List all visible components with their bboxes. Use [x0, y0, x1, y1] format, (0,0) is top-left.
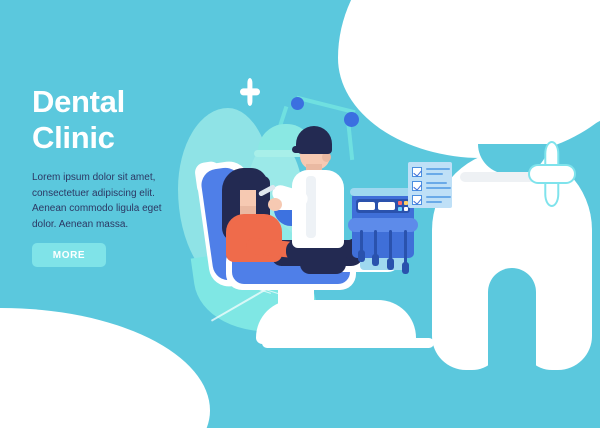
cart-tool-2 — [372, 254, 379, 266]
cart-tool-4 — [402, 262, 409, 274]
cart-tool-shelf — [348, 218, 418, 232]
checkbox-icon[interactable] — [412, 195, 422, 205]
dentist-lab-coat — [292, 170, 344, 248]
cart-tool-3 — [387, 258, 394, 270]
checklist-text-line — [426, 196, 451, 198]
dental-checklist-card[interactable] — [408, 162, 452, 208]
checklist-row[interactable] — [412, 195, 448, 205]
cart-screen-right — [378, 202, 395, 210]
page-title-line-1: Dental — [32, 84, 252, 120]
cart-tool-1 — [358, 250, 365, 262]
checkbox-icon[interactable] — [412, 181, 422, 191]
checklist-text-line — [426, 201, 442, 203]
tooth-root-gap — [488, 268, 536, 368]
checklist-text-line — [426, 173, 443, 175]
dentist-cap-brim — [292, 146, 312, 153]
sparkle-tooth-icon — [530, 143, 574, 205]
check-mark-icon — [413, 182, 421, 191]
cart-hose-2 — [374, 230, 377, 256]
hero-body-text: Lorem ipsum dolor sit amet, consectetuer… — [32, 170, 182, 232]
dentist-hand — [268, 198, 282, 211]
lamp-arm-upper — [296, 96, 355, 114]
check-mark-icon — [413, 168, 421, 177]
sparkle-top-right-icon — [369, 90, 386, 114]
cart-hose-3 — [389, 230, 392, 260]
checklist-text-line — [426, 187, 451, 189]
page-title-line-2: Clinic — [32, 120, 252, 156]
cart-base — [360, 256, 406, 270]
cart-hose-1 — [360, 230, 363, 252]
check-mark-icon — [413, 196, 421, 205]
checkbox-icon[interactable] — [412, 167, 422, 177]
lamp-joint-mid — [344, 112, 359, 127]
dentist-coat-fold — [306, 176, 316, 238]
checklist-row[interactable] — [412, 181, 448, 191]
dental-clinic-banner: Dental Clinic Lorem ipsum dolor sit amet… — [0, 0, 600, 428]
checklist-text-line — [426, 182, 447, 184]
chair-floor-plate — [262, 338, 434, 348]
checklist-row[interactable] — [412, 167, 448, 177]
checklist-text-line — [426, 168, 450, 170]
cart-top-surface — [350, 188, 416, 196]
cart-hose-4 — [404, 230, 407, 264]
page-title: Dental Clinic — [32, 84, 252, 156]
more-button[interactable]: MORE — [32, 243, 106, 267]
lamp-joint-top — [291, 97, 304, 110]
cart-screen-left — [358, 202, 375, 210]
